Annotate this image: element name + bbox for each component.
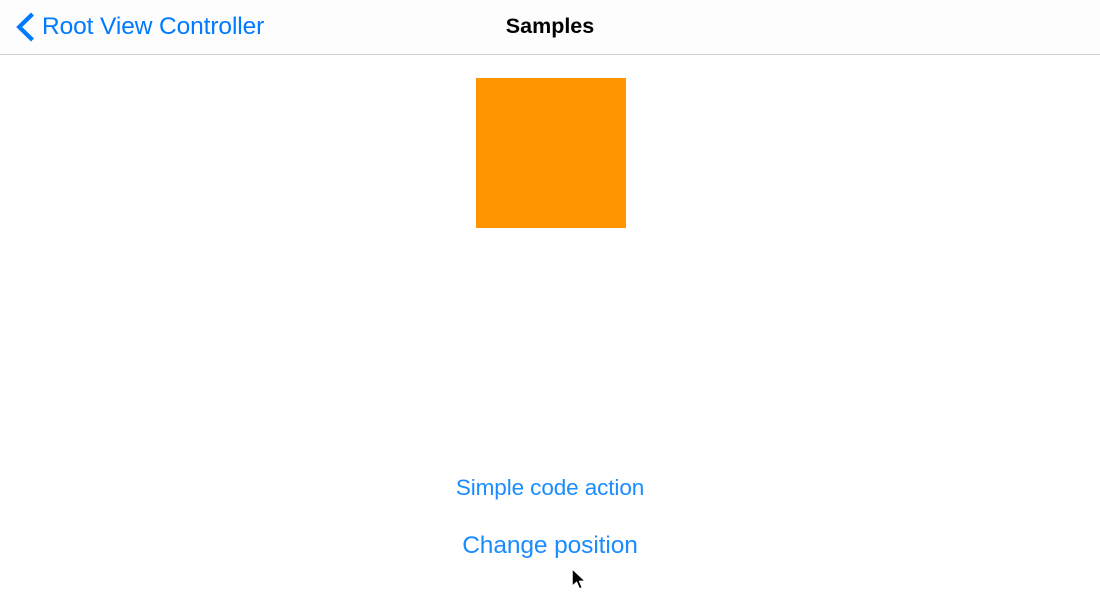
- content-area: Simple code action Change position: [0, 56, 1100, 612]
- page-title-text: Samples: [506, 16, 594, 38]
- simple-code-action-button[interactable]: Simple code action: [0, 474, 1100, 502]
- chevron-left-icon: [14, 12, 36, 42]
- change-position-button[interactable]: Change position: [0, 531, 1100, 561]
- back-button[interactable]: Root View Controller: [14, 0, 264, 54]
- orange-square: [476, 78, 626, 228]
- app-window: Root View Controller Samples Simple code…: [0, 0, 1100, 612]
- navigation-bar: Root View Controller Samples: [0, 0, 1100, 55]
- back-button-label: Root View Controller: [42, 15, 264, 40]
